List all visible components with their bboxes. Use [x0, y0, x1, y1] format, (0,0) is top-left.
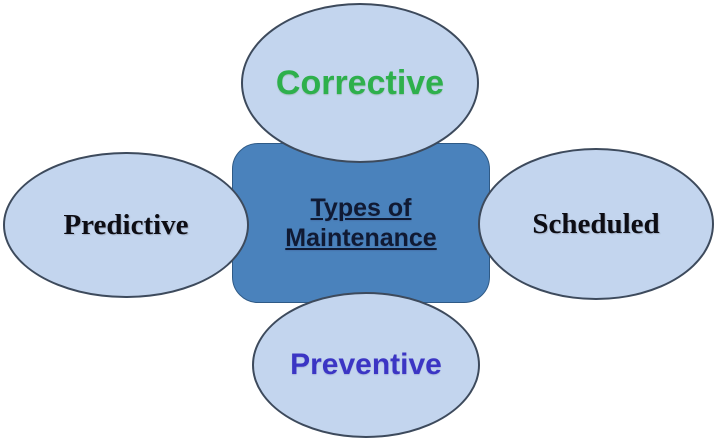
node-preventive-label: Preventive	[290, 350, 442, 380]
node-scheduled[interactable]: Scheduled	[478, 148, 714, 300]
node-predictive-label: Predictive	[63, 211, 188, 240]
node-predictive[interactable]: Predictive	[3, 152, 249, 298]
center-hub-shape	[232, 143, 490, 303]
node-corrective[interactable]: Corrective	[241, 3, 479, 163]
node-corrective-label: Corrective	[276, 66, 444, 100]
node-scheduled-label: Scheduled	[532, 210, 659, 239]
node-preventive[interactable]: Preventive	[252, 292, 480, 438]
maintenance-types-diagram: Corrective Scheduled Preventive Predicti…	[0, 0, 720, 447]
